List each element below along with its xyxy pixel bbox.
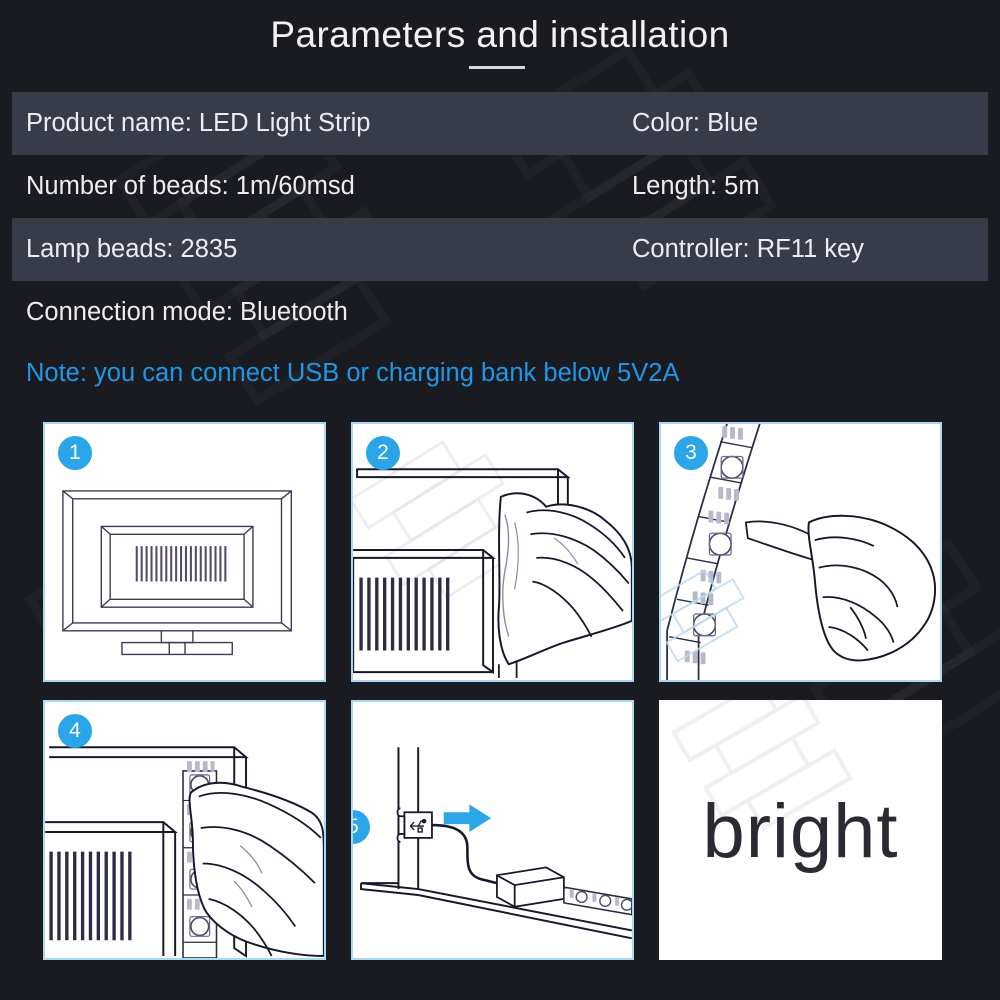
connect-usb-illustration bbox=[353, 702, 632, 958]
spec-number-of-beads: Number of beads: 1m/60msd bbox=[26, 172, 355, 201]
step-badge-3: 3 bbox=[674, 436, 708, 470]
spec-connection-mode: Connection mode: Bluetooth bbox=[26, 298, 348, 327]
table-row: Product name: LED Light Strip Color: Blu… bbox=[0, 92, 1000, 155]
step-result-bright: bright bbox=[659, 700, 942, 960]
spec-lamp-beads: Lamp beads: 2835 bbox=[26, 235, 237, 264]
spec-length: Length: 5m bbox=[632, 172, 760, 201]
step-monitor-front: 1 bbox=[43, 422, 326, 682]
table-row: Number of beads: 1m/60msd Length: 5m bbox=[0, 155, 1000, 218]
title-underline-rule bbox=[469, 66, 525, 69]
page-header: Parameters and installation bbox=[0, 0, 1000, 88]
spec-product-name: Product name: LED Light Strip bbox=[26, 109, 370, 138]
step-badge-4: 4 bbox=[58, 714, 92, 748]
step-badge-1: 1 bbox=[58, 436, 92, 470]
page-title: Parameters and installation bbox=[0, 14, 1000, 56]
installation-steps-grid: 1 bbox=[43, 422, 947, 967]
step-attach-strip: 4 bbox=[43, 700, 326, 960]
power-note: Note: you can connect USB or charging ba… bbox=[26, 359, 679, 388]
step-peel-adhesive: 3 bbox=[659, 422, 942, 682]
specification-table: Product name: LED Light Strip Color: Blu… bbox=[0, 92, 1000, 402]
step-connect-usb: 5 bbox=[351, 700, 634, 960]
spec-controller: Controller: RF11 key bbox=[632, 235, 864, 264]
table-row: Connection mode: Bluetooth bbox=[0, 281, 1000, 344]
bright-label: bright bbox=[659, 788, 942, 875]
spec-color: Color: Blue bbox=[632, 109, 758, 138]
table-row: Lamp beads: 2835 Controller: RF11 key bbox=[0, 218, 1000, 281]
step-badge-2: 2 bbox=[366, 436, 400, 470]
note-row: Note: you can connect USB or charging ba… bbox=[0, 344, 1000, 402]
step-clean-surface: 2 bbox=[351, 422, 634, 682]
